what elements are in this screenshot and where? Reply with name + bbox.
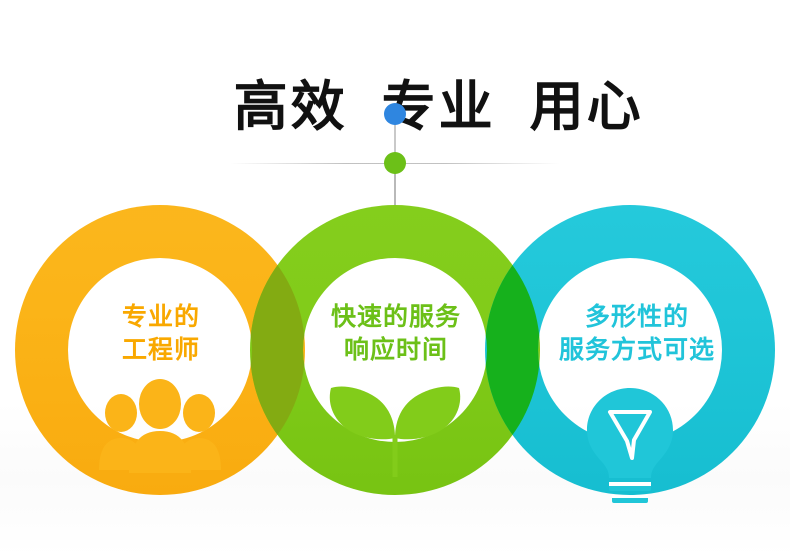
circle-caption-response-time: 快速的服务 响应时间 [290, 300, 502, 366]
circle-caption-service-options: 多形性的 服务方式可选 [518, 300, 756, 366]
venn-rings [0, 0, 790, 557]
circle-caption-engineers: 专业的 工程师 [56, 300, 266, 366]
poster-canvas: 高效专业用心 [0, 0, 790, 557]
